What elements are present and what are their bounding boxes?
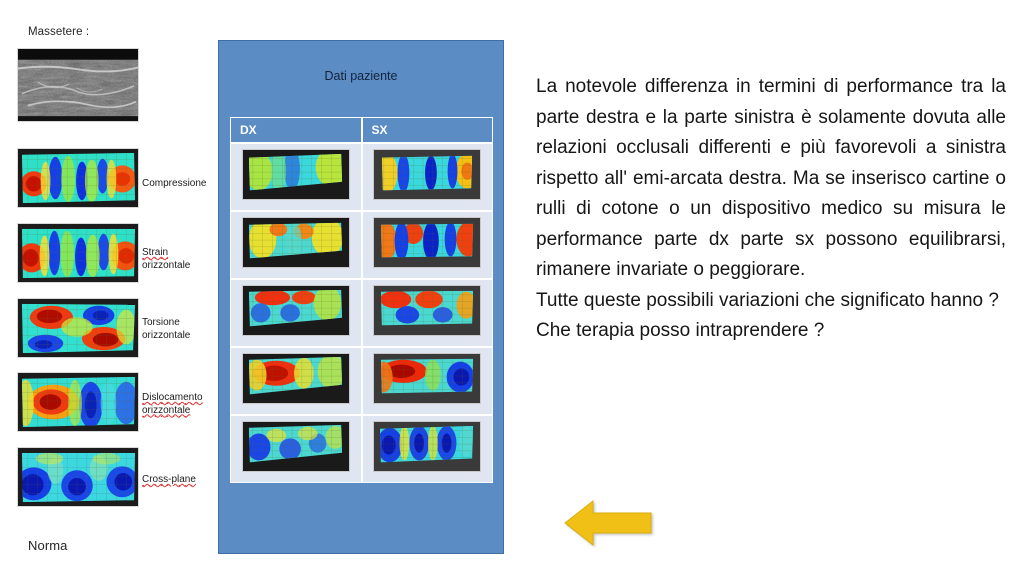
- table-cell-sx[interactable]: [362, 347, 494, 415]
- table-row: [230, 279, 493, 347]
- row-label-strain-orizzontale: Strain orizzontale: [142, 247, 222, 272]
- row-label-line-2: orizzontale: [142, 260, 190, 271]
- table-cell-sx[interactable]: [362, 143, 494, 211]
- massetere-label: Massetere :: [28, 26, 89, 38]
- table-cell-dx[interactable]: [230, 279, 362, 347]
- table-cell-sx[interactable]: [362, 279, 494, 347]
- patient-data-panel: Dati paziente DX SX: [218, 40, 504, 554]
- row-label-line-1: Dislocamento: [142, 392, 203, 404]
- table-row: [230, 211, 493, 279]
- table-cell-dx[interactable]: [230, 347, 362, 415]
- row-label-text: Cross-plane: [142, 474, 196, 486]
- elastography-thumb-cross-plane: [17, 447, 139, 507]
- panel-title: Dati paziente: [219, 69, 503, 83]
- row-label-compressione: Compressione: [142, 178, 222, 191]
- elastography-image-sx-1: [373, 149, 481, 200]
- table-cell-dx[interactable]: [230, 211, 362, 279]
- row-label-line-2: orizzontale: [142, 405, 190, 417]
- elastography-image-dx-4: [242, 353, 350, 404]
- elastography-image-sx-2: [373, 217, 481, 268]
- paragraph-3: Che terapia posso intraprendere ?: [536, 316, 1006, 347]
- paragraph-1: La notevole differenza in termini di per…: [536, 72, 1006, 286]
- elastography-image-dx-5: [242, 421, 350, 472]
- left-column: Massetere :: [0, 0, 218, 576]
- table-header-sx[interactable]: SX: [362, 117, 494, 143]
- elastography-image-sx-4: [373, 353, 481, 404]
- table-row: [230, 415, 493, 483]
- table-cell-dx[interactable]: [230, 143, 362, 211]
- row-label-line-2: orizzontale: [142, 330, 190, 341]
- elastography-image-sx-3: [373, 285, 481, 336]
- table-cell-sx[interactable]: [362, 211, 494, 279]
- table-row: [230, 347, 493, 415]
- table-cell-dx[interactable]: [230, 415, 362, 483]
- ultrasound-bmode-image: [17, 48, 139, 122]
- paragraph-2: Tutte queste possibili variazioni che si…: [536, 286, 1006, 317]
- elastography-thumb-dislocamento-orizzontale: [17, 372, 139, 432]
- row-label-line-1: Torsione: [142, 317, 180, 328]
- table-cell-sx[interactable]: [362, 415, 494, 483]
- elastography-image-dx-3: [242, 285, 350, 336]
- elastography-image-dx-1: [242, 149, 350, 200]
- elastography-image-dx-2: [242, 217, 350, 268]
- patient-data-table: DX SX: [230, 117, 493, 483]
- row-label-cross-plane: Cross-plane: [142, 474, 222, 487]
- norma-label: Norma: [28, 538, 68, 553]
- row-label-line-1: Strain: [142, 247, 168, 259]
- row-label-torsione-orizzontale: Torsione orizzontale: [142, 317, 222, 342]
- elastography-thumb-compressione: [17, 148, 139, 208]
- elastography-thumb-strain-orizzontale: [17, 223, 139, 283]
- row-label-dislocamento-orizzontale: Dislocamento orizzontale: [142, 392, 222, 417]
- table-header-row: DX SX: [230, 117, 493, 143]
- row-label-text: Compressione: [142, 178, 206, 189]
- left-arrow-icon[interactable]: [563, 498, 655, 548]
- table-row: [230, 143, 493, 211]
- explanatory-text-block: La notevole differenza in termini di per…: [536, 72, 1006, 347]
- elastography-thumb-torsione-orizzontale: [17, 298, 139, 358]
- table-header-dx[interactable]: DX: [230, 117, 362, 143]
- elastography-image-sx-5: [373, 421, 481, 472]
